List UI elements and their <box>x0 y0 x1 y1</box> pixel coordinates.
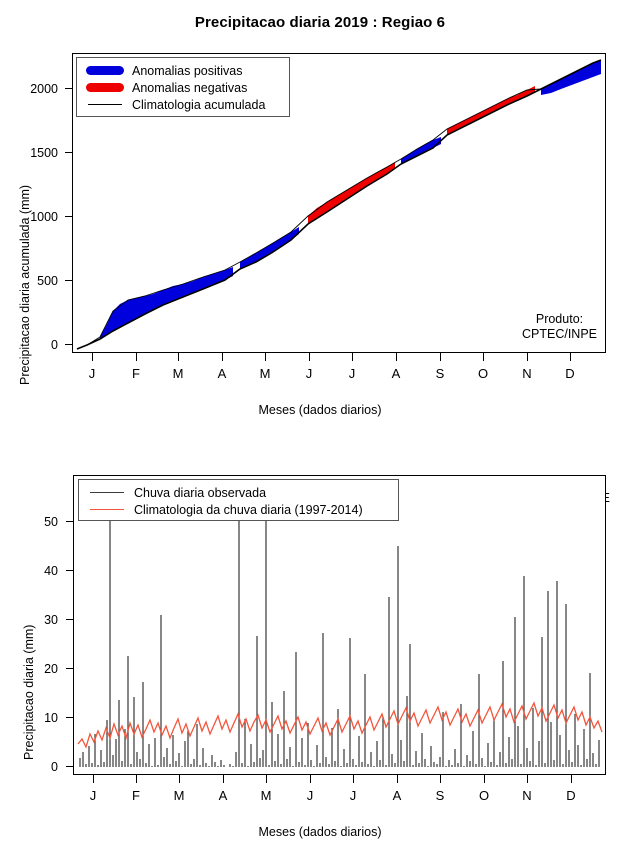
top-xtickmark-10 <box>483 353 484 361</box>
top-xticklabel-A2: A <box>381 366 411 381</box>
bottom-ytick-0: 0 <box>10 760 58 774</box>
observed-daily-bars <box>80 498 599 767</box>
bottom-xticklabel-O: O <box>469 788 499 803</box>
legend-item-positive: Anomalias positivas <box>77 62 289 79</box>
bottom-xtickmark-6 <box>310 775 311 783</box>
bottom-xtickmark-4 <box>223 775 224 783</box>
bottom-xticklabel-J1: J <box>78 788 108 803</box>
bottom-xtickmark-11 <box>527 775 528 783</box>
bottom-xticklabel-M2: M <box>251 788 281 803</box>
page-title: Precipitacao diaria 2019 : Regiao 6 <box>0 14 640 31</box>
top-xticklabel-A1: A <box>207 366 237 381</box>
top-ytick-1500: 1500 <box>10 146 58 160</box>
bottom-ytick-40: 40 <box>10 564 58 578</box>
legend-item-climatology: Climatologia acumulada <box>77 96 289 113</box>
top-xtickmark-4 <box>222 353 223 361</box>
bottom-xticklabel-A2: A <box>382 788 412 803</box>
bottom-xtickmark-2 <box>136 775 137 783</box>
bottom-ytick-50: 50 <box>10 515 58 529</box>
legend-line-climatology <box>88 104 122 105</box>
top-xtickmark-3 <box>178 353 179 361</box>
bottom-ytick-30: 30 <box>10 613 58 627</box>
top-xtickmark-5 <box>265 353 266 361</box>
bottom-xtickmark-5 <box>266 775 267 783</box>
bottom-xticklabel-D: D <box>556 788 586 803</box>
bottom-legend: Chuva diaria observada Climatologia da c… <box>78 479 399 521</box>
top-xtickmark-1 <box>92 353 93 361</box>
chart-page: Precipitacao diaria 2019 : Regiao 6 Prec… <box>0 0 640 850</box>
legend-item-daily-climatology: Climatologia da chuva diaria (1997-2014) <box>79 501 398 518</box>
legend-label-negative: Anomalias negativas <box>132 81 247 95</box>
legend-label-climatology: Climatologia acumulada <box>132 98 265 112</box>
top-xticklabel-J3: J <box>337 366 367 381</box>
legend-item-negative: Anomalias negativas <box>77 79 289 96</box>
bottom-xtickmark-3 <box>179 775 180 783</box>
anomaly-positive-band-4 <box>541 60 601 95</box>
legend-label-daily-climatology: Climatologia da chuva diaria (1997-2014) <box>134 503 363 517</box>
bottom-xticklabel-S: S <box>425 788 455 803</box>
bottom-xtickmark-8 <box>397 775 398 783</box>
top-xtickmark-2 <box>136 353 137 361</box>
bottom-xticklabel-J3: J <box>338 788 368 803</box>
bottom-xtickmark-7 <box>353 775 354 783</box>
bottom-xticklabel-N: N <box>512 788 542 803</box>
legend-label-observed: Chuva diaria observada <box>134 486 266 500</box>
top-xtickmark-9 <box>440 353 441 361</box>
top-ytick-1000: 1000 <box>10 210 58 224</box>
bottom-ytick-10: 10 <box>10 711 58 725</box>
top-xticklabel-O: O <box>468 366 498 381</box>
top-xticklabel-F: F <box>121 366 151 381</box>
top-ytick-2000: 2000 <box>10 82 58 96</box>
legend-swatch-positive <box>86 66 124 75</box>
top-xticklabel-N: N <box>512 366 542 381</box>
top-legend: Anomalias positivas Anomalias negativas … <box>76 57 290 117</box>
legend-swatch-negative <box>86 83 124 92</box>
top-xtickmark-7 <box>352 353 353 361</box>
bottom-xticklabel-J2: J <box>295 788 325 803</box>
bottom-xticklabel-M1: M <box>164 788 194 803</box>
legend-label-positive: Anomalias positivas <box>132 64 242 78</box>
bottom-plot-area: Chuva diaria observada Climatologia da c… <box>73 475 606 775</box>
anomaly-negative-band-1 <box>308 162 395 224</box>
top-ytick-0: 0 <box>10 338 58 352</box>
legend-line-daily-climatology <box>90 509 124 510</box>
top-produto-annotation: Produto: CPTEC/INPE <box>522 312 597 342</box>
bottom-xticklabel-F: F <box>121 788 151 803</box>
bottom-xticklabel-A1: A <box>208 788 238 803</box>
bottom-y-axis-label: Precipitacao diaria (mm) <box>22 625 36 760</box>
top-xtickmark-6 <box>309 353 310 361</box>
top-panel: Precipitacao diaria acumulada (mm) 0 500… <box>0 40 640 430</box>
bottom-panel: Precipitacao diaria (mm) 0 10 20 30 40 5… <box>0 460 640 850</box>
top-produto-line1: Produto: <box>522 312 597 327</box>
top-xticklabel-M1: M <box>163 366 193 381</box>
top-xtickmark-12 <box>570 353 571 361</box>
top-produto-line2: CPTEC/INPE <box>522 327 597 342</box>
top-xticklabel-S: S <box>425 366 455 381</box>
top-xticklabel-J1: J <box>77 366 107 381</box>
top-xticklabel-M2: M <box>250 366 280 381</box>
legend-item-observed: Chuva diaria observada <box>79 484 398 501</box>
bottom-xtickmark-12 <box>571 775 572 783</box>
bottom-xtickmark-9 <box>440 775 441 783</box>
top-x-axis-label: Meses (dados diarios) <box>0 403 640 417</box>
legend-line-observed <box>90 492 124 493</box>
bottom-xtickmark-1 <box>93 775 94 783</box>
top-ytick-500: 500 <box>10 274 58 288</box>
top-xtickmark-11 <box>527 353 528 361</box>
top-xtickmark-8 <box>396 353 397 361</box>
top-plot-area: Produto: CPTEC/INPE Anomalias positivas … <box>72 53 606 353</box>
bottom-ytick-20: 20 <box>10 662 58 676</box>
bottom-x-axis-label: Meses (dados diarios) <box>0 825 640 839</box>
bottom-xtickmark-10 <box>484 775 485 783</box>
anomaly-positive-band-2 <box>240 227 299 269</box>
anomaly-positive-band-3 <box>401 137 441 164</box>
top-xticklabel-J2: J <box>294 366 324 381</box>
top-xticklabel-D: D <box>555 366 585 381</box>
